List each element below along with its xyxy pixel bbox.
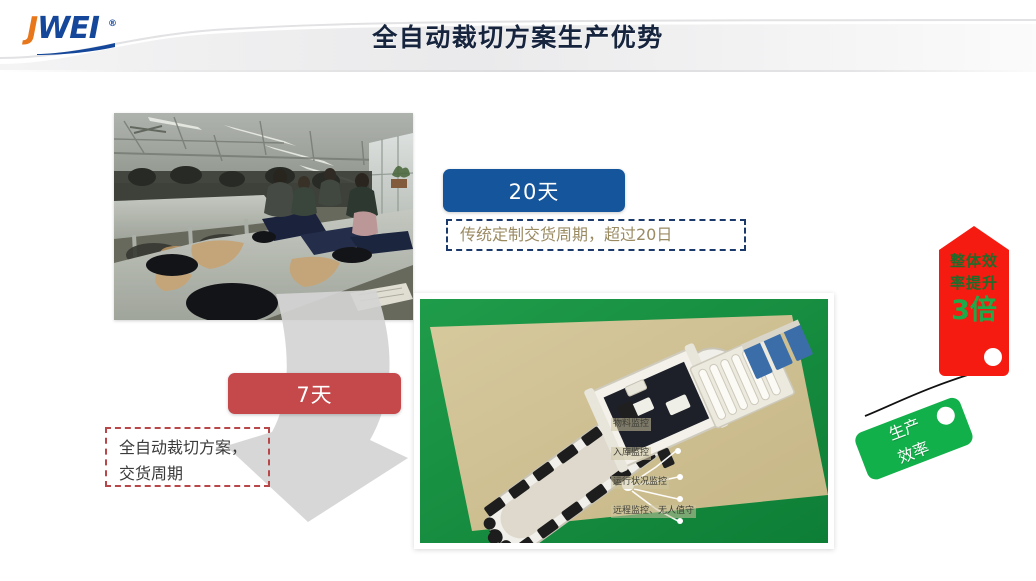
tag-red-line2: 率提升: [935, 272, 1013, 294]
badge-automatic-days: 7天: [228, 373, 401, 414]
slide-canvas: JWEI ® 全自动裁切方案生产优势: [0, 0, 1036, 581]
caption-traditional: 传统定制交货周期，超过20日: [446, 219, 746, 251]
slide-header: JWEI ® 全自动裁切方案生产优势: [0, 0, 1036, 72]
header-divider: [0, 70, 1036, 72]
machine-label-item: 入库监控: [611, 447, 651, 460]
badge-traditional-days: 20天: [443, 169, 625, 212]
tag-red-multiplier: 3倍: [935, 296, 1013, 326]
machine-label-item: 运行状况监控: [611, 476, 669, 489]
caption-traditional-text: 传统定制交货周期，超过20日: [460, 222, 672, 248]
machine-label-item: 物料监控: [611, 418, 651, 431]
factory-photo: [114, 113, 413, 320]
machine-photo: 物料监控 入库监控 运行状况监控 远程监控、无人值守: [420, 299, 828, 543]
tag-production-efficiency: 生产 效率: [852, 396, 974, 482]
caption-automatic-text: 全自动裁切方案，交货周期: [119, 435, 256, 487]
page-title: 全自动裁切方案生产优势: [0, 18, 1036, 54]
machine-photo-card: 物料监控 入库监控 运行状况监控 远程监控、无人值守: [414, 293, 834, 549]
tag-red-line1: 整体效: [935, 250, 1013, 272]
caption-automatic: 全自动裁切方案，交货周期: [105, 427, 270, 487]
machine-label-item: 远程监控、无人值守: [611, 505, 696, 518]
machine-annotation-list: 物料监控 入库监控 运行状况监控 远程监控、无人值守: [611, 411, 821, 527]
tag-overall-efficiency: 整体效 率提升 3倍: [935, 224, 1013, 379]
